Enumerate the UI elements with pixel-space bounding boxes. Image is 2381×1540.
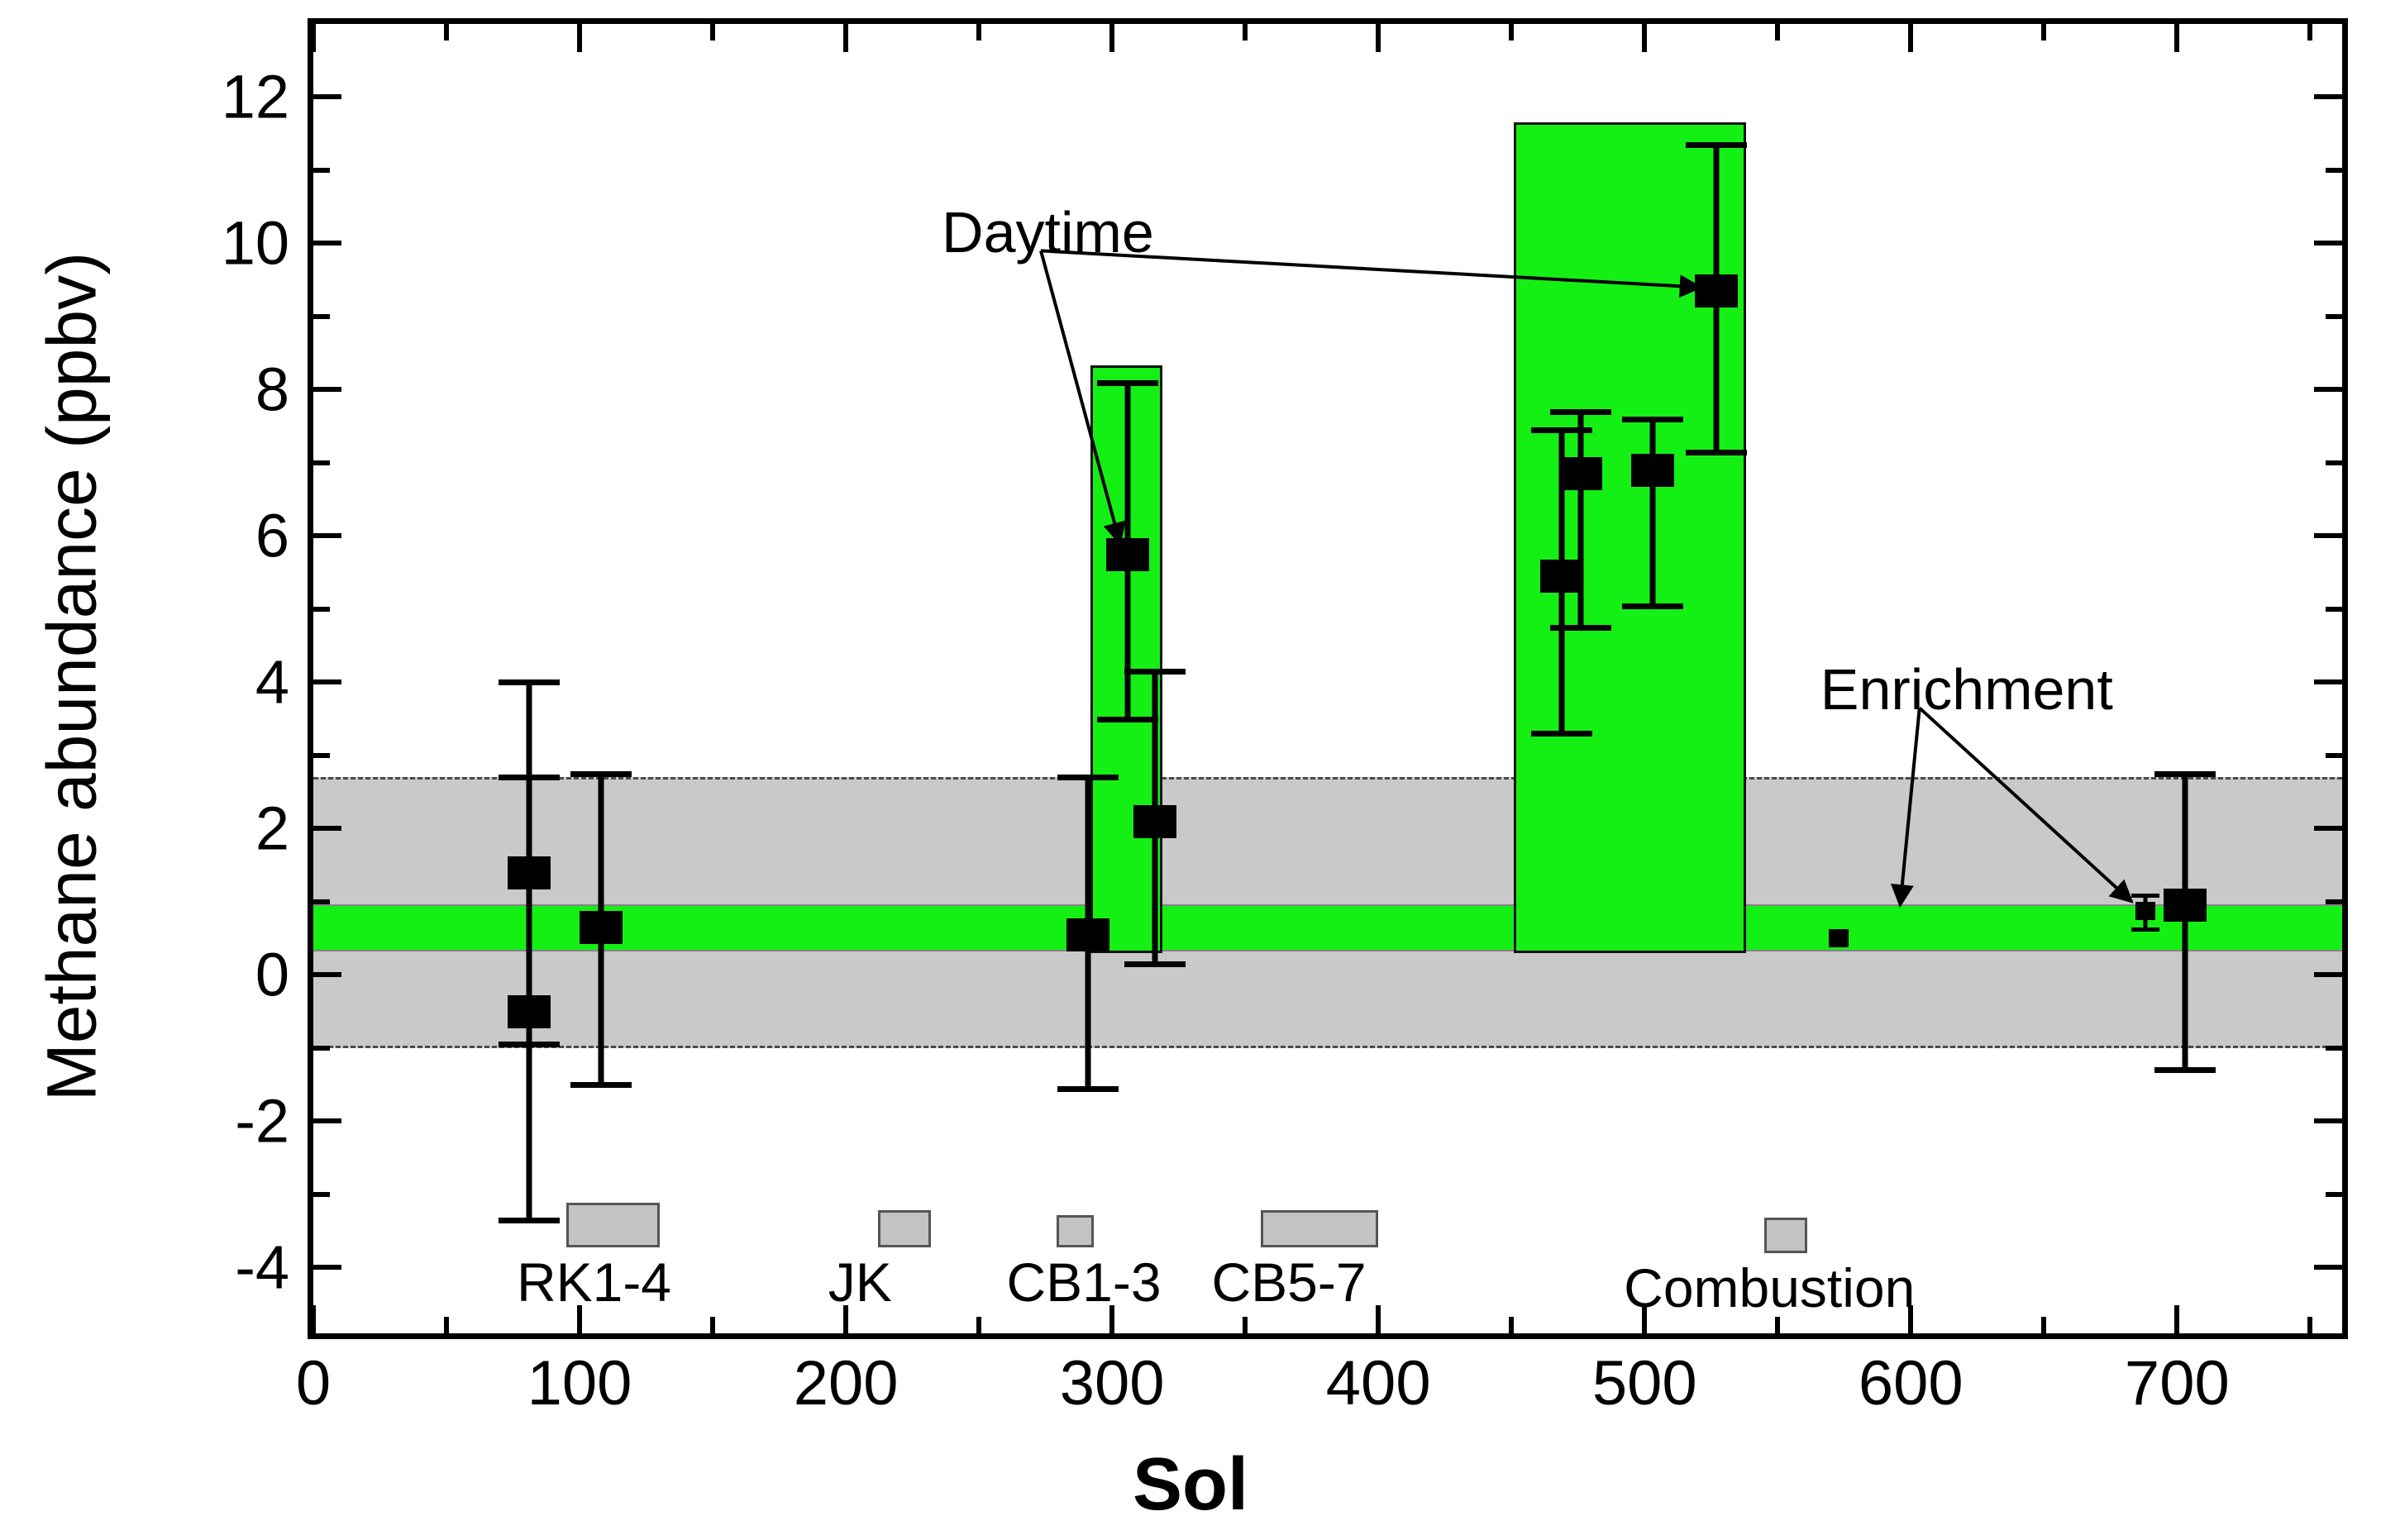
data-point-marker bbox=[580, 911, 623, 944]
y-tick-minor bbox=[2326, 460, 2342, 465]
y-tick-minor bbox=[313, 460, 330, 465]
x-tick-minor bbox=[2307, 24, 2312, 41]
error-bar-cap bbox=[499, 679, 560, 685]
y-tick-label: -4 bbox=[235, 1232, 289, 1303]
error-bar-cap bbox=[1531, 731, 1592, 737]
error-bar-cap bbox=[1097, 380, 1158, 386]
y-tick-major bbox=[2314, 94, 2342, 99]
data-point-marker bbox=[508, 995, 551, 1028]
error-bar-cap bbox=[1686, 142, 1747, 148]
y-tick-major bbox=[2314, 387, 2342, 392]
error-bar-cap bbox=[2154, 1067, 2216, 1073]
y-tick-major bbox=[2314, 1118, 2342, 1123]
x-tick-label: 200 bbox=[794, 1347, 899, 1419]
x-tick-label: 500 bbox=[1592, 1347, 1697, 1419]
y-tick-minor bbox=[2326, 753, 2342, 758]
y-tick-minor bbox=[313, 753, 330, 758]
error-bar bbox=[526, 682, 532, 1219]
y-tick-minor bbox=[2326, 607, 2342, 612]
error-bar-cap bbox=[1057, 775, 1119, 780]
y-tick-major bbox=[313, 826, 341, 831]
x-tick-label: 400 bbox=[1326, 1347, 1431, 1419]
y-tick-label: 6 bbox=[255, 501, 289, 571]
x-tick-minor bbox=[976, 24, 981, 41]
error-bar-cap bbox=[1622, 417, 1683, 422]
y-tick-major bbox=[313, 1265, 341, 1270]
campaign-label-jk: JK bbox=[828, 1251, 892, 1314]
x-tick-minor bbox=[710, 24, 715, 41]
y-tick-minor bbox=[2326, 314, 2342, 319]
x-tick-major bbox=[1109, 24, 1114, 52]
x-tick-minor bbox=[2307, 1317, 2312, 1333]
y-tick-major bbox=[2314, 826, 2342, 831]
y-tick-label: 8 bbox=[255, 355, 289, 425]
campaign-label-combustion: Combustion bbox=[1624, 1256, 1915, 1319]
x-tick-label: 600 bbox=[1859, 1347, 1963, 1419]
error-bar-cap bbox=[2131, 927, 2159, 932]
x-tick-major bbox=[843, 24, 848, 52]
x-tick-label: 300 bbox=[1060, 1347, 1165, 1419]
y-tick-major bbox=[2314, 533, 2342, 538]
error-bar bbox=[1649, 419, 1655, 606]
y-tick-major bbox=[313, 94, 341, 99]
x-tick-major bbox=[311, 1305, 316, 1333]
campaign-label-cb1-3: CB1-3 bbox=[1007, 1251, 1162, 1314]
x-tick-minor bbox=[444, 24, 449, 41]
y-tick-label: -2 bbox=[235, 1086, 289, 1156]
data-point-marker bbox=[1631, 454, 1674, 487]
x-tick-minor bbox=[1775, 1317, 1780, 1333]
y-tick-major bbox=[313, 1118, 341, 1123]
x-tick-label: 100 bbox=[527, 1347, 632, 1419]
x-tick-major bbox=[2174, 1305, 2179, 1333]
y-tick-minor bbox=[2326, 1046, 2342, 1051]
campaign-swatch-cb1-3 bbox=[1057, 1215, 1094, 1247]
error-bar-cap bbox=[1550, 625, 1611, 631]
y-tick-minor bbox=[313, 899, 330, 904]
y-tick-label: 0 bbox=[255, 940, 289, 1010]
y-tick-major bbox=[2314, 972, 2342, 977]
x-tick-major bbox=[1642, 24, 1647, 52]
y-tick-major bbox=[2314, 241, 2342, 246]
y-tick-major bbox=[313, 387, 341, 392]
campaign-swatch-jk bbox=[878, 1210, 931, 1247]
y-tick-minor bbox=[2326, 1192, 2342, 1197]
error-bar-cap bbox=[1097, 717, 1158, 722]
data-point-marker bbox=[1133, 805, 1176, 838]
y-tick-major bbox=[2314, 679, 2342, 684]
data-point-marker bbox=[1695, 274, 1738, 308]
y-tick-label: 10 bbox=[222, 208, 289, 279]
x-tick-minor bbox=[1243, 24, 1248, 41]
y-tick-label: 12 bbox=[222, 62, 289, 132]
x-tick-minor bbox=[2041, 24, 2046, 41]
data-point-marker bbox=[1559, 457, 1602, 490]
error-bar-cap bbox=[1124, 961, 1186, 967]
y-tick-minor bbox=[313, 607, 330, 612]
y-tick-minor bbox=[313, 168, 330, 173]
y-tick-minor bbox=[313, 1046, 330, 1051]
error-bar-cap bbox=[1124, 669, 1186, 675]
y-tick-label: 2 bbox=[255, 794, 289, 864]
error-bar-cap bbox=[499, 1218, 560, 1223]
y-tick-minor bbox=[313, 314, 330, 319]
x-tick-major bbox=[1376, 24, 1381, 52]
y-tick-major bbox=[2314, 1265, 2342, 1270]
error-bar-cap bbox=[2154, 771, 2216, 777]
x-tick-label: 0 bbox=[296, 1347, 331, 1419]
annotation-enrichment: Enrichment bbox=[1820, 656, 2113, 722]
y-tick-major bbox=[313, 679, 341, 684]
x-axis-title: Sol bbox=[0, 1442, 2381, 1528]
y-tick-major bbox=[313, 533, 341, 538]
data-point-marker bbox=[1829, 929, 1849, 947]
x-tick-minor bbox=[1243, 1317, 1248, 1333]
x-tick-minor bbox=[444, 1317, 449, 1333]
x-tick-label: 700 bbox=[2125, 1347, 2230, 1419]
data-point-marker bbox=[2135, 902, 2155, 920]
data-point-marker bbox=[1066, 918, 1109, 951]
campaign-swatch-combustion bbox=[1764, 1218, 1807, 1252]
y-tick-minor bbox=[2326, 168, 2342, 173]
enrichment-box-sol-500 bbox=[1514, 122, 1745, 952]
x-tick-major bbox=[2174, 24, 2179, 52]
error-bar-cap bbox=[1686, 450, 1747, 455]
campaign-swatch-rk1-4 bbox=[566, 1203, 660, 1247]
x-tick-major bbox=[1376, 1305, 1381, 1333]
error-bar-cap bbox=[1057, 1086, 1119, 1092]
error-bar-cap bbox=[570, 771, 632, 777]
y-tick-minor bbox=[313, 1192, 330, 1197]
x-tick-minor bbox=[1509, 1317, 1514, 1333]
x-tick-minor bbox=[710, 1317, 715, 1333]
x-tick-minor bbox=[976, 1317, 981, 1333]
campaign-label-rk1-4: RK1-4 bbox=[517, 1251, 671, 1314]
x-tick-major bbox=[311, 24, 316, 52]
data-point-marker bbox=[2164, 889, 2207, 922]
x-tick-minor bbox=[1775, 24, 1780, 41]
annotation-daytime: Daytime bbox=[942, 199, 1154, 265]
x-tick-major bbox=[577, 24, 582, 52]
x-tick-minor bbox=[2041, 1317, 2046, 1333]
y-axis-title: Methane abundance (ppbv) bbox=[32, 160, 112, 1194]
x-tick-major bbox=[1908, 24, 1913, 52]
campaign-label-cb5-7: CB5-7 bbox=[1211, 1251, 1366, 1314]
error-bar-cap bbox=[1622, 603, 1683, 609]
y-tick-major bbox=[313, 241, 341, 246]
campaign-swatch-cb5-7 bbox=[1261, 1210, 1378, 1247]
data-point-marker bbox=[1106, 538, 1149, 571]
y-tick-major bbox=[313, 972, 341, 977]
chart-figure: -4-2024681012 0100200300400500600700 Met… bbox=[0, 0, 2381, 1540]
y-tick-minor bbox=[2326, 899, 2342, 904]
error-bar-cap bbox=[2131, 894, 2159, 898]
error-bar-cap bbox=[570, 1082, 632, 1088]
y-tick-label: 4 bbox=[255, 647, 289, 718]
error-bar-cap bbox=[1550, 409, 1611, 415]
x-tick-minor bbox=[1509, 24, 1514, 41]
error-bar bbox=[1577, 412, 1583, 627]
